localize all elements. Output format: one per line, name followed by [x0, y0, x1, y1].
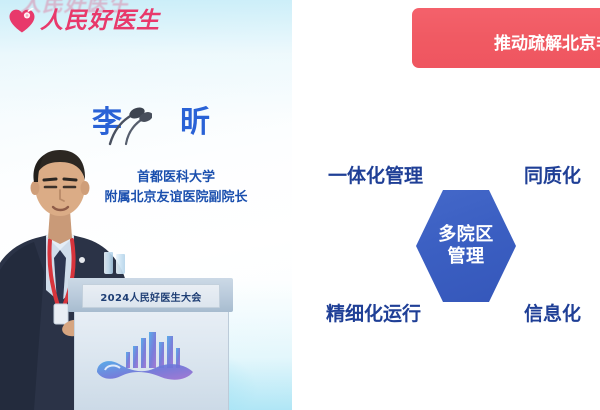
heart-icon	[8, 8, 36, 34]
water-bottle-2	[116, 254, 125, 274]
hexagon-diagram: 多院区 管理 一体化管理 同质化 精细化运行 信息化	[292, 0, 600, 410]
diagram-center-hexagon: 多院区 管理	[416, 190, 516, 302]
diagram-label-top-left: 一体化管理	[328, 167, 423, 186]
water-bottle-1	[104, 252, 113, 274]
podium-body	[74, 312, 229, 410]
hexagon-label-line-2: 管理	[448, 246, 485, 269]
podium-sign: 2024人民好医生大会	[82, 284, 220, 308]
hexagon-label-line-1: 多院区	[438, 224, 494, 247]
microphone-icon	[104, 106, 152, 146]
diagram-label-top-right: 同质化	[524, 167, 581, 186]
podium: 2024人民好医生大会	[68, 278, 233, 410]
diagram-label-bottom-left: 精细化运行	[326, 305, 421, 324]
conference-venue-panel: 人民好医生 人民好医生 李 昕 首都医科大学 附属北京友谊医院副院长	[0, 0, 292, 410]
podium-sign-text: 2024人民好医生大会	[100, 289, 201, 304]
diagram-label-bottom-right: 信息化	[524, 305, 581, 324]
screenshot-frame: 人民好医生 人民好医生 李 昕 首都医科大学 附属北京友谊医院副院长	[0, 0, 600, 410]
conference-logo: 人民好医生	[8, 8, 160, 34]
city-skyline-emblem-icon	[89, 324, 211, 388]
heart-icon-svg	[8, 8, 36, 34]
conference-logo-text: 人民好医生	[40, 10, 160, 33]
presentation-slide-panel: 北京友 推动疏解北京非首 多院区 管理 一体化管理 同质化 精细化运行 信息化	[292, 0, 600, 410]
